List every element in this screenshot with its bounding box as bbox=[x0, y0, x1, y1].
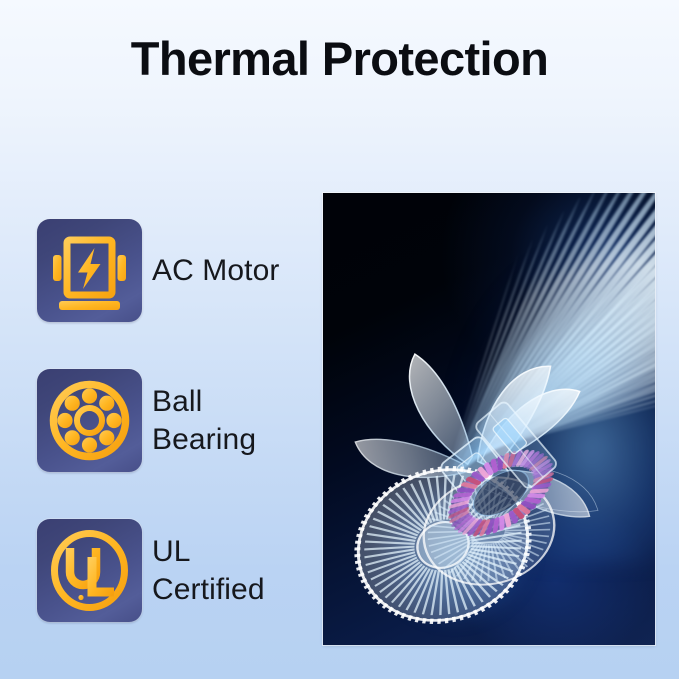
ball-bearing-icon bbox=[37, 369, 142, 472]
feature-list: AC Motor bbox=[37, 219, 317, 622]
feature-item-ac-motor: AC Motor bbox=[37, 219, 317, 322]
feature-item-ball-bearing: Ball Bearing bbox=[37, 369, 317, 472]
fan-motor-airflow-photo bbox=[323, 193, 655, 645]
page-title: Thermal Protection bbox=[0, 34, 679, 84]
feature-label-ac-motor: AC Motor bbox=[152, 252, 280, 290]
feature-label-ul-certified: UL Certified bbox=[152, 533, 265, 609]
ul-certified-icon-tile bbox=[37, 519, 142, 622]
feature-item-ul-certified: UL Certified bbox=[37, 519, 317, 622]
ac-motor-icon-tile bbox=[37, 219, 142, 322]
ball-bearing-icon-tile bbox=[37, 369, 142, 472]
ac-motor-icon bbox=[37, 219, 142, 322]
ul-certified-icon bbox=[37, 519, 142, 622]
motor-assembly bbox=[323, 193, 655, 645]
feature-label-ball-bearing: Ball Bearing bbox=[152, 383, 256, 459]
